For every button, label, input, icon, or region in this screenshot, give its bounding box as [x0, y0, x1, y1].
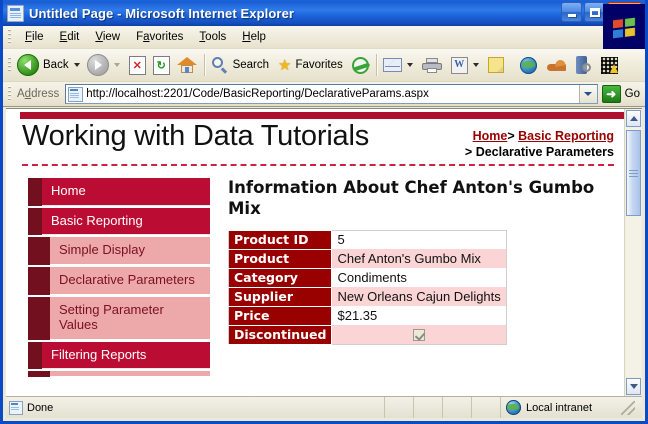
- status-text: Done: [27, 402, 53, 414]
- page-scrollbar[interactable]: [624, 109, 642, 396]
- back-label: Back: [43, 59, 69, 71]
- sidebar-item-label: Simple Display: [50, 237, 210, 265]
- shoe-button[interactable]: [547, 58, 566, 72]
- search-icon: [211, 56, 229, 74]
- mail-icon: [383, 58, 402, 72]
- main-content: Information About Chef Anton's Gumbo Mix…: [210, 178, 624, 379]
- address-label: Address: [17, 88, 59, 100]
- page-viewport: Working with Data Tutorials Home> Basic …: [6, 108, 642, 396]
- ie-logo-banner: [603, 4, 645, 52]
- row-value-discontinued: [332, 325, 506, 344]
- row-label-price: Price: [229, 306, 332, 325]
- address-dropdown-button[interactable]: [579, 85, 597, 103]
- breadcrumb-link-home[interactable]: Home: [473, 129, 508, 143]
- breadcrumb-current: Declarative Parameters: [476, 145, 614, 159]
- forward-icon: [87, 54, 109, 76]
- scroll-down-button[interactable]: [626, 378, 641, 395]
- forward-dropdown-caret-icon[interactable]: [114, 63, 120, 67]
- sidebar-item-home[interactable]: Home: [28, 178, 210, 206]
- row-label-category: Category: [229, 268, 332, 287]
- minimize-button[interactable]: [561, 2, 582, 22]
- sidebar-item-label: Basic Reporting: [42, 208, 210, 236]
- table-row: Product Chef Anton's Gumbo Mix: [229, 249, 507, 268]
- chevron-up-icon: [630, 116, 638, 121]
- favorites-button[interactable]: ★ Favorites: [278, 58, 343, 73]
- menu-help[interactable]: Help: [234, 29, 274, 45]
- sidebar-item-label: Setting Parameter Values: [50, 297, 210, 340]
- discontinued-checkbox-checked-icon: [413, 329, 425, 341]
- row-label-discontinued: Discontinued: [229, 325, 332, 344]
- menu-favorites[interactable]: Favorites: [128, 29, 191, 45]
- back-dropdown-caret-icon[interactable]: [74, 63, 80, 67]
- chevron-down-icon: [630, 384, 638, 389]
- status-cell-2: [413, 397, 442, 418]
- toolbar-separator-2: [376, 54, 378, 76]
- address-input[interactable]: http://localhost:2201/Code/BasicReportin…: [65, 84, 597, 104]
- go-label: Go: [625, 88, 640, 100]
- status-cell-1: [384, 397, 413, 418]
- maximize-icon: [590, 8, 600, 17]
- web-page: Working with Data Tutorials Home> Basic …: [6, 109, 624, 396]
- address-drag-grip[interactable]: [8, 86, 11, 102]
- menu-file[interactable]: File: [17, 29, 52, 45]
- sidebar-item-setting-parameter-values[interactable]: Setting Parameter Values: [28, 297, 210, 340]
- address-bar: Address http://localhost:2201/Code/Basic…: [3, 82, 645, 107]
- refresh-button[interactable]: ↻: [153, 56, 170, 75]
- address-url-text: http://localhost:2201/Code/BasicReportin…: [86, 88, 578, 100]
- back-button[interactable]: Back: [17, 54, 85, 76]
- status-cell-4: [471, 397, 500, 418]
- row-value-category: Condiments: [332, 268, 506, 287]
- title-bar: Untitled Page - Microsoft Internet Explo…: [3, 0, 645, 26]
- sidebar-item-basic-reporting[interactable]: Basic Reporting: [28, 208, 210, 236]
- nav-stripe: [28, 371, 50, 377]
- print-icon: [422, 58, 442, 73]
- security-zone[interactable]: Local intranet: [500, 397, 642, 418]
- sidebar-item-partial[interactable]: [28, 371, 210, 377]
- search-label: Search: [233, 59, 269, 71]
- chevron-down-icon: [584, 92, 592, 96]
- maximize-button[interactable]: [584, 2, 605, 22]
- status-page-icon: [9, 401, 23, 415]
- mail-button[interactable]: [383, 58, 418, 72]
- table-row: Discontinued: [229, 325, 507, 344]
- row-label-supplier: Supplier: [229, 287, 332, 306]
- nav-stripe: [28, 178, 42, 206]
- breadcrumb-sep-2: >: [465, 145, 472, 159]
- favorites-label: Favorites: [295, 59, 342, 71]
- windows-flag-icon: [613, 18, 635, 39]
- notes-button[interactable]: [488, 57, 504, 73]
- table-row: Supplier New Orleans Cajun Delights: [229, 287, 507, 306]
- mail-dropdown-caret-icon[interactable]: [407, 63, 413, 67]
- row-label-product-id: Product ID: [229, 230, 332, 249]
- edit-word-button[interactable]: W: [451, 57, 484, 74]
- sidebar-item-filtering-reports[interactable]: Filtering Reports: [28, 342, 210, 370]
- shoe-icon: [547, 58, 566, 72]
- table-row: Category Condiments: [229, 268, 507, 287]
- sidebar-item-label: Filtering Reports: [42, 342, 210, 370]
- nav-stripe: [28, 208, 42, 236]
- page-content: Home Basic Reporting Simple Display Decl…: [6, 166, 624, 379]
- sidebar-item-label-partial: [50, 371, 210, 377]
- page-favicon: [68, 87, 83, 102]
- scroll-up-button[interactable]: [626, 110, 641, 127]
- breadcrumb-link-basic-reporting[interactable]: Basic Reporting: [518, 129, 614, 143]
- toolbar: Back ✕ ↻ Search ★ Favorites: [3, 49, 645, 82]
- refresh-icon: ↻: [153, 56, 170, 75]
- row-value-product: Chef Anton's Gumbo Mix: [332, 249, 506, 268]
- product-detail-table: Product ID 5 Product Chef Anton's Gumbo …: [228, 230, 507, 345]
- nav-stripe: [28, 237, 50, 265]
- row-value-price: $21.35: [332, 306, 506, 325]
- nav-stripe: [28, 267, 50, 295]
- content-heading: Information About Chef Anton's Gumbo Mix: [228, 178, 610, 219]
- menu-view[interactable]: View: [87, 29, 128, 45]
- menu-edit[interactable]: Edit: [52, 29, 88, 45]
- breadcrumb-sep-1: >: [507, 129, 514, 143]
- research-button[interactable]: [576, 56, 591, 74]
- print-button[interactable]: [422, 58, 442, 73]
- scrollbar-thumb[interactable]: [626, 130, 641, 216]
- forward-button[interactable]: [87, 54, 125, 76]
- back-icon: [17, 54, 39, 76]
- table-row: Product ID 5: [229, 230, 507, 249]
- go-button[interactable]: ➜ Go: [600, 85, 645, 103]
- menu-drag-grip[interactable]: [8, 29, 11, 45]
- breadcrumb: Home> Basic Reporting > Declarative Para…: [465, 120, 614, 160]
- nav-stripe: [28, 297, 50, 340]
- media-icon: [352, 57, 369, 74]
- notes-icon: [488, 57, 504, 73]
- sidebar-item-simple-display[interactable]: Simple Display: [28, 237, 210, 265]
- page-top-accent-bar: [20, 112, 624, 119]
- edit-dropdown-caret-icon[interactable]: [473, 63, 479, 67]
- window-page-icon: [7, 5, 24, 22]
- page-title: Working with Data Tutorials: [22, 120, 369, 153]
- stop-icon: ✕: [129, 56, 146, 75]
- scrollbar-grip-icon: [629, 170, 638, 177]
- messenger-globe-icon: [520, 57, 537, 74]
- go-arrow-icon: ➜: [602, 85, 621, 103]
- edit-word-icon: W: [451, 57, 468, 74]
- sidebar-item-label: Declarative Parameters: [50, 267, 210, 295]
- browser-window: Untitled Page - Microsoft Internet Explo…: [0, 0, 648, 424]
- status-cell-3: [442, 397, 471, 418]
- table-row: Price $21.35: [229, 306, 507, 325]
- menu-tools[interactable]: Tools: [191, 29, 234, 45]
- menu-bar: File Edit View Favorites Tools Help: [3, 26, 645, 49]
- media-button[interactable]: [352, 57, 369, 74]
- row-value-product-id: 5: [332, 230, 506, 249]
- home-icon: [177, 56, 197, 74]
- security-zone-label: Local intranet: [526, 402, 592, 414]
- intranet-globe-icon: [506, 400, 521, 415]
- page-header: Working with Data Tutorials Home> Basic …: [6, 119, 624, 160]
- toolbar-separator: [204, 54, 206, 76]
- minimize-icon: [568, 14, 576, 17]
- resize-grip-icon[interactable]: [621, 401, 635, 415]
- search-button[interactable]: Search: [211, 56, 269, 74]
- home-button[interactable]: [177, 56, 197, 74]
- sidebar-item-label: Home: [42, 178, 210, 206]
- research-icon: [576, 56, 591, 74]
- scrollbar-track[interactable]: [626, 128, 641, 377]
- toolbar-drag-grip[interactable]: [8, 57, 11, 73]
- status-message-area: Done: [6, 401, 53, 415]
- sidebar-item-declarative-parameters[interactable]: Declarative Parameters: [28, 267, 210, 295]
- window-title: Untitled Page - Microsoft Internet Explo…: [29, 6, 294, 21]
- messenger-button[interactable]: [520, 57, 537, 74]
- encarta-icon: [601, 57, 618, 74]
- row-value-supplier: New Orleans Cajun Delights: [332, 287, 506, 306]
- status-bar: Done Local intranet: [6, 396, 642, 418]
- row-label-product: Product: [229, 249, 332, 268]
- sidebar-nav: Home Basic Reporting Simple Display Decl…: [28, 178, 210, 379]
- stop-button[interactable]: ✕: [129, 56, 146, 75]
- favorites-star-icon: ★: [278, 58, 291, 73]
- encarta-button[interactable]: [601, 57, 618, 74]
- nav-stripe: [28, 342, 42, 370]
